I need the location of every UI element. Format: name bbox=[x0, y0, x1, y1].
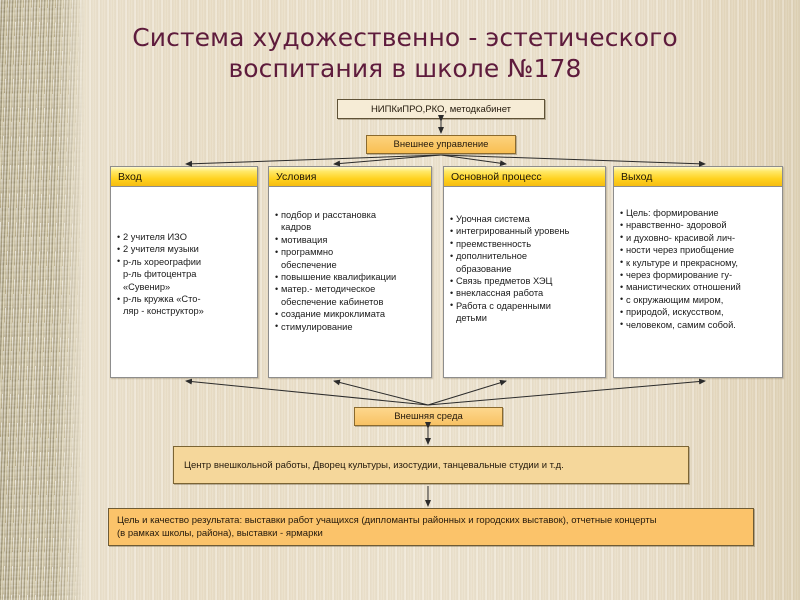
node-external-environment[interactable]: Внешняя среда bbox=[354, 407, 503, 426]
column-output-header: Выход bbox=[614, 167, 782, 187]
column-conditions-body: подбор и расстановка кадров мотивация пр… bbox=[269, 187, 431, 377]
list-item: через формирование гу- bbox=[620, 269, 778, 281]
column-output-body: Цель: формирование нравственно- здоровой… bbox=[614, 187, 782, 377]
list-item: программно обеспечение bbox=[275, 246, 427, 271]
node-authority[interactable]: НИПКиПРО,РКО, методкабинет bbox=[337, 99, 545, 119]
column-main-process-body: Урочная система интегрированный уровень … bbox=[444, 187, 605, 377]
list-item: мотивация bbox=[275, 234, 427, 246]
list-item: манистических отношений bbox=[620, 281, 778, 293]
column-main-process-header: Основной процесс bbox=[444, 167, 605, 187]
list-item: 2 учителя музыки bbox=[117, 243, 253, 255]
column-input-list: 2 учителя ИЗО 2 учителя музыки р-ль хоре… bbox=[117, 231, 253, 318]
column-main-process-list: Урочная система интегрированный уровень … bbox=[450, 213, 601, 325]
list-item: дополнительное образование bbox=[450, 250, 601, 275]
list-item: преемственность bbox=[450, 238, 601, 250]
list-item: нравственно- здоровой bbox=[620, 219, 778, 231]
column-conditions-header: Условия bbox=[269, 167, 431, 187]
column-main-process[interactable]: Основной процесс Урочная система интегри… bbox=[443, 166, 606, 378]
list-item: с окружающим миром, bbox=[620, 294, 778, 306]
page-title: Система художественно - эстетического во… bbox=[60, 22, 750, 84]
list-item: р-ль кружка «Сто- ляр - конструктор» bbox=[117, 293, 253, 318]
list-item: повышение квалификации bbox=[275, 271, 427, 283]
slide-canvas: Система художественно - эстетического во… bbox=[0, 0, 800, 600]
list-item: Работа с одаренными детьми bbox=[450, 300, 601, 325]
node-partner-centers[interactable]: Центр внешкольной работы, Дворец культур… bbox=[173, 446, 689, 484]
list-item: ности через приобщение bbox=[620, 244, 778, 256]
node-goal-and-result[interactable]: Цель и качество результата: выставки раб… bbox=[108, 508, 754, 546]
list-item: интегрированный уровень bbox=[450, 225, 601, 237]
list-item: создание микроклимата bbox=[275, 308, 427, 320]
list-item: матер.- методическое обеспечение кабинет… bbox=[275, 283, 427, 308]
list-item: природой, искусством, bbox=[620, 306, 778, 318]
node-external-management[interactable]: Внешнее управление bbox=[366, 135, 516, 154]
list-item: 2 учителя ИЗО bbox=[117, 231, 253, 243]
column-conditions[interactable]: Условия подбор и расстановка кадров моти… bbox=[268, 166, 432, 378]
list-item: Урочная система bbox=[450, 213, 601, 225]
list-item: р-ль хореографии р-ль фитоцентра «Сувени… bbox=[117, 256, 253, 293]
list-item: Связь предметов ХЭЦ bbox=[450, 275, 601, 287]
list-item: к культуре и прекрасному, bbox=[620, 257, 778, 269]
column-conditions-list: подбор и расстановка кадров мотивация пр… bbox=[275, 209, 427, 333]
column-output-list: Цель: формирование нравственно- здоровой… bbox=[620, 207, 778, 331]
column-input-header: Вход bbox=[111, 167, 257, 187]
list-item: подбор и расстановка кадров bbox=[275, 209, 427, 234]
column-input[interactable]: Вход 2 учителя ИЗО 2 учителя музыки р-ль… bbox=[110, 166, 258, 378]
column-output[interactable]: Выход Цель: формирование нравственно- зд… bbox=[613, 166, 783, 378]
list-item: Цель: формирование bbox=[620, 207, 778, 219]
list-item: человеком, самим собой. bbox=[620, 319, 778, 331]
column-input-body: 2 учителя ИЗО 2 учителя музыки р-ль хоре… bbox=[111, 187, 257, 377]
list-item: внеклассная работа bbox=[450, 287, 601, 299]
list-item: и духовно- красивой лич- bbox=[620, 232, 778, 244]
list-item: стимулирование bbox=[275, 321, 427, 333]
